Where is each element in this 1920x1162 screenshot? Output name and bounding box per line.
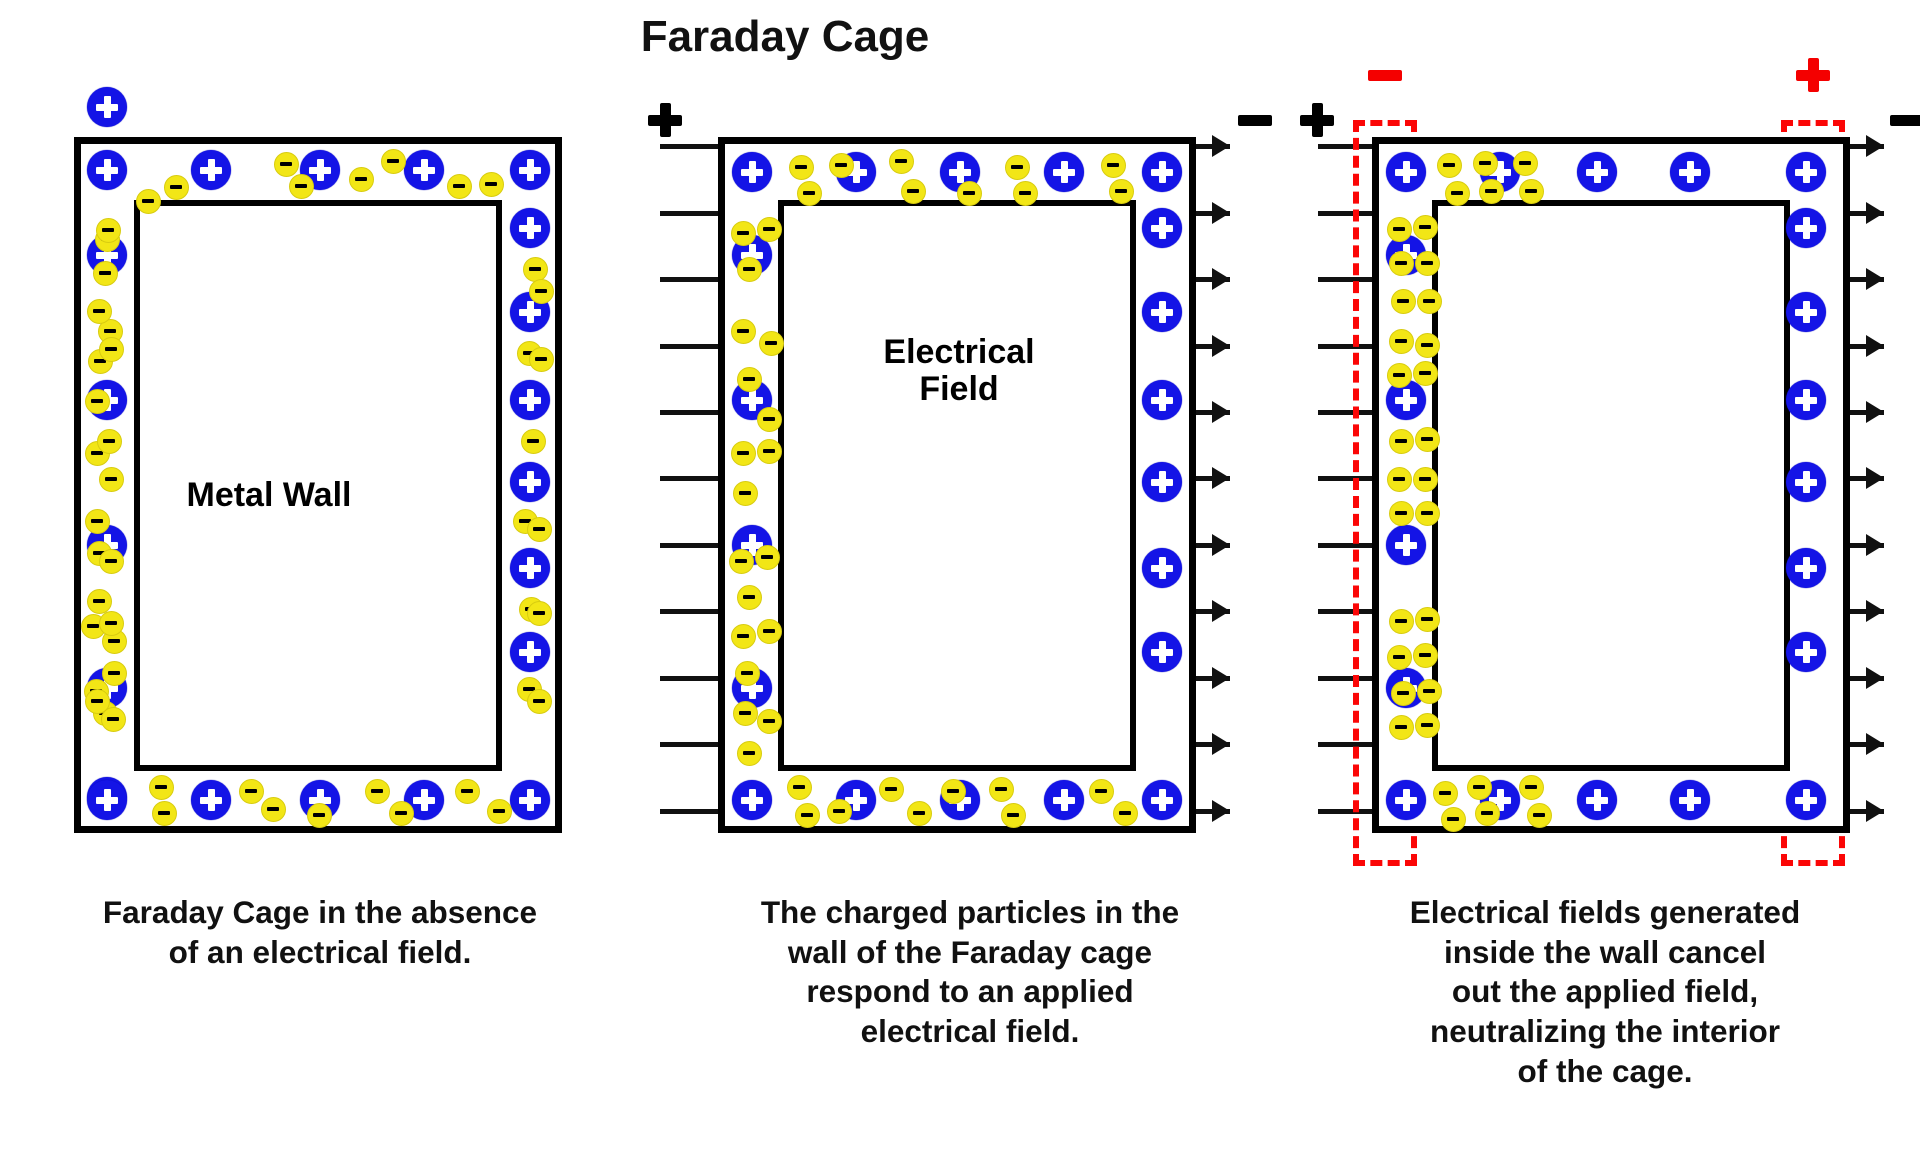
negative-charge-particle: [1415, 607, 1440, 632]
minus-glyph: [1479, 161, 1491, 165]
negative-charge-particle: [757, 619, 782, 644]
positive-charge-particle: [1044, 780, 1084, 820]
negative-charge-particle: [261, 797, 286, 822]
plus-glyph: [1795, 557, 1817, 579]
minus-glyph: [765, 341, 777, 345]
negative-charge-particle: [1391, 681, 1416, 706]
minus-glyph: [533, 611, 545, 615]
positive-charge-particle: [1786, 462, 1826, 502]
minus-glyph: [737, 329, 749, 333]
positive-charge-particle: [1142, 380, 1182, 420]
plus-glyph: [1586, 789, 1608, 811]
negative-charge-particle: [455, 779, 480, 804]
plus-glyph: [1300, 103, 1334, 137]
positive-charge-particle: [87, 150, 127, 190]
plus-glyph: [1795, 161, 1817, 183]
negative-charge-particle: [733, 481, 758, 506]
caption-line: wall of the Faraday cage: [640, 933, 1300, 973]
negative-charge-particle: [1475, 801, 1500, 826]
plus-glyph: [519, 159, 541, 181]
negative-charge-particle: [1389, 715, 1414, 740]
plus-glyph: [1795, 471, 1817, 493]
minus-glyph: [535, 289, 547, 293]
positive-charge-particle: [1142, 292, 1182, 332]
positive-charge-particle: [1786, 780, 1826, 820]
minus-glyph: [1095, 789, 1107, 793]
field-line-arrowhead: [1212, 135, 1230, 157]
minus-glyph: [1115, 189, 1127, 193]
negative-charge-particle: [795, 803, 820, 828]
caption-line: of the cage.: [1290, 1052, 1920, 1092]
plus-glyph: [1795, 641, 1817, 663]
negative-charge-particle: [1417, 679, 1442, 704]
negative-charge-particle: [827, 799, 852, 824]
minus-glyph: [735, 559, 747, 563]
plus-glyph: [1053, 789, 1075, 811]
positive-charge-particle: [510, 780, 550, 820]
negative-charge-particle: [97, 429, 122, 454]
positive-charge-particle: [510, 208, 550, 248]
minus-glyph: [93, 309, 105, 313]
plus-sign: [1300, 103, 1334, 137]
caption-line: respond to an applied: [640, 972, 1300, 1012]
negative-charge-particle: [96, 218, 121, 243]
negative-charge-particle: [735, 661, 760, 686]
positive-charge-particle: [1577, 152, 1617, 192]
negative-charge-particle: [1389, 501, 1414, 526]
minus-glyph: [1397, 691, 1409, 695]
positive-charge-particle: [732, 780, 772, 820]
field-line-arrowhead: [1212, 335, 1230, 357]
negative-charge-particle: [731, 319, 756, 344]
minus-glyph: [107, 717, 119, 721]
minus-glyph: [1533, 813, 1545, 817]
negative-charge-particle: [1445, 181, 1470, 206]
minus-glyph: [527, 439, 539, 443]
plus-glyph: [648, 103, 682, 137]
minus-glyph: [763, 417, 775, 421]
plus-glyph: [519, 641, 541, 663]
plus-glyph: [519, 301, 541, 323]
minus-glyph: [1447, 817, 1459, 821]
negative-charge-particle: [164, 175, 189, 200]
positive-charge-particle: [1386, 780, 1426, 820]
minus-glyph: [485, 182, 497, 186]
minus-glyph: [739, 711, 751, 715]
negative-charge-particle: [1413, 361, 1438, 386]
field-line-arrowhead: [1212, 202, 1230, 224]
minus-glyph: [907, 189, 919, 193]
negative-charge-particle: [479, 172, 504, 197]
minus-glyph: [1395, 339, 1407, 343]
minus-glyph: [1395, 725, 1407, 729]
positive-charge-particle: [510, 548, 550, 588]
negative-charge-particle: [733, 701, 758, 726]
plus-glyph: [741, 789, 763, 811]
plus-glyph: [1151, 301, 1173, 323]
negative-charge-particle: [521, 429, 546, 454]
plus-glyph: [741, 161, 763, 183]
field-line-arrowhead: [1866, 401, 1884, 423]
negative-charge-particle: [731, 221, 756, 246]
minus-glyph: [529, 267, 541, 271]
minus-glyph: [1393, 477, 1405, 481]
caption-line: Electrical fields generated: [1290, 893, 1920, 933]
minus-glyph: [267, 807, 279, 811]
negative-charge-particle: [1387, 645, 1412, 670]
negative-charge-particle: [787, 775, 812, 800]
negative-charge-particle: [1389, 251, 1414, 276]
minus-glyph: [91, 699, 103, 703]
minus-glyph: [1011, 165, 1023, 169]
field-line-arrowhead: [1212, 600, 1230, 622]
negative-charge-particle: [1389, 329, 1414, 354]
minus-glyph: [835, 163, 847, 167]
minus-glyph: [533, 699, 545, 703]
minus-glyph: [1421, 511, 1433, 515]
plus-glyph: [1151, 789, 1173, 811]
minus-glyph: [102, 228, 114, 232]
negative-charge-particle: [93, 261, 118, 286]
plus-glyph: [1796, 58, 1830, 92]
minus-glyph: [453, 184, 465, 188]
minus-glyph: [763, 629, 775, 633]
minus-glyph: [739, 491, 751, 495]
field-line-arrowhead: [1866, 335, 1884, 357]
minus-glyph: [793, 785, 805, 789]
minus-glyph: [1439, 791, 1451, 795]
positive-charge-particle: [510, 462, 550, 502]
minus-glyph: [1419, 653, 1431, 657]
negative-charge-particle: [1441, 807, 1466, 832]
negative-charge-particle: [1527, 803, 1552, 828]
minus-glyph: [1393, 227, 1405, 231]
field-line-arrowhead: [1866, 268, 1884, 290]
cage-inner-cavity: [1432, 200, 1790, 771]
minus-glyph: [743, 595, 755, 599]
negative-charge-particle: [529, 279, 554, 304]
minus-glyph: [1107, 163, 1119, 167]
caption-line: electrical field.: [640, 1012, 1300, 1052]
minus-glyph: [1395, 511, 1407, 515]
positive-charge-particle: [510, 632, 550, 672]
negative-charge-particle: [1415, 251, 1440, 276]
plus-glyph: [519, 389, 541, 411]
plus-glyph: [1151, 217, 1173, 239]
minus-glyph: [280, 162, 292, 166]
negative-charge-particle: [757, 439, 782, 464]
minus-glyph: [1421, 343, 1433, 347]
caption-panel-1: Faraday Cage in the absenceof an electri…: [0, 893, 640, 972]
negative-charge-particle: [1413, 467, 1438, 492]
minus-glyph: [763, 449, 775, 453]
field-line-arrowhead: [1212, 467, 1230, 489]
negative-charge-particle: [99, 337, 124, 362]
minus-glyph: [995, 787, 1007, 791]
minus-glyph: [1443, 163, 1455, 167]
minus-glyph: [763, 719, 775, 723]
negative-charge-particle: [99, 549, 124, 574]
negative-charge-particle: [731, 624, 756, 649]
cage-inner-cavity: [778, 200, 1136, 771]
minus-glyph: [743, 377, 755, 381]
negative-charge-particle: [1415, 333, 1440, 358]
plus-glyph: [1395, 161, 1417, 183]
minus-glyph: [295, 184, 307, 188]
caption-line: The charged particles in the: [640, 893, 1300, 933]
plus-glyph: [1151, 557, 1173, 579]
negative-charge-particle: [102, 661, 127, 686]
positive-charge-particle: [1670, 780, 1710, 820]
negative-charge-particle: [1389, 429, 1414, 454]
minus-glyph: [1421, 617, 1433, 621]
minus-glyph: [947, 789, 959, 793]
negative-charge-particle: [737, 367, 762, 392]
field-line-arrowhead: [1866, 534, 1884, 556]
negative-charge-particle: [99, 611, 124, 636]
negative-charge-particle: [289, 174, 314, 199]
negative-charge-particle: [1433, 781, 1458, 806]
negative-charge-particle: [1109, 179, 1134, 204]
plus-glyph: [96, 159, 118, 181]
minus-glyph: [1423, 689, 1435, 693]
field-line-arrowhead: [1212, 733, 1230, 755]
minus-glyph: [104, 329, 116, 333]
negative-charge-particle: [349, 167, 374, 192]
plus-glyph: [1395, 534, 1417, 556]
electrical-field-label-line-2: Field: [844, 371, 1074, 408]
minus-glyph: [535, 357, 547, 361]
minus-glyph: [93, 599, 105, 603]
caption-line: out the applied field,: [1290, 972, 1920, 1012]
minus-glyph: [355, 177, 367, 181]
positive-charge-particle: [1142, 780, 1182, 820]
page-title: Faraday Cage: [0, 12, 1570, 62]
negative-charge-particle: [99, 467, 124, 492]
caption-line: inside the wall cancel: [1290, 933, 1920, 973]
minus-glyph: [87, 624, 99, 628]
plus-glyph: [1053, 161, 1075, 183]
negative-charge-particle: [85, 509, 110, 534]
minus-glyph: [1421, 261, 1433, 265]
positive-charge-particle: [191, 780, 231, 820]
negative-charge-particle: [381, 149, 406, 174]
negative-charge-particle: [941, 779, 966, 804]
negative-charge-particle: [1467, 775, 1492, 800]
minus-glyph: [105, 621, 117, 625]
negative-charge-particle: [1519, 775, 1544, 800]
positive-charge-particle: [1142, 548, 1182, 588]
minus-glyph: [737, 634, 749, 638]
positive-charge-particle: [1386, 525, 1426, 565]
minus-glyph: [170, 185, 182, 189]
minus-glyph: [313, 813, 325, 817]
minus-glyph: [1368, 58, 1402, 92]
minus-glyph: [387, 159, 399, 163]
plus-glyph: [1151, 389, 1173, 411]
negative-charge-particle: [87, 589, 112, 614]
minus-glyph: [99, 271, 111, 275]
negative-charge-particle: [737, 741, 762, 766]
field-line-arrowhead: [1212, 534, 1230, 556]
plus-glyph: [309, 159, 331, 181]
plus-glyph: [519, 789, 541, 811]
caption-line: of an electrical field.: [0, 933, 640, 973]
negative-charge-particle: [789, 155, 814, 180]
negative-charge-particle: [1437, 153, 1462, 178]
red-plus-sign: [1796, 58, 1830, 92]
electrical-field-label-line-1: Electrical: [844, 334, 1074, 371]
minus-glyph: [1485, 189, 1497, 193]
negative-charge-particle: [757, 407, 782, 432]
positive-charge-particle: [1142, 632, 1182, 672]
minus-sign: [1890, 103, 1920, 137]
positive-charge-particle: [87, 780, 127, 820]
minus-glyph: [533, 527, 545, 531]
minus-glyph: [103, 439, 115, 443]
minus-glyph: [105, 477, 117, 481]
minus-glyph: [885, 787, 897, 791]
negative-charge-particle: [87, 299, 112, 324]
minus-glyph: [743, 267, 755, 271]
positive-charge-particle: [1142, 152, 1182, 192]
minus-glyph: [1451, 191, 1463, 195]
positive-charge-particle: [1142, 462, 1182, 502]
field-line-arrowhead: [1866, 135, 1884, 157]
negative-charge-particle: [527, 689, 552, 714]
negative-charge-particle: [759, 331, 784, 356]
minus-glyph: [1481, 811, 1493, 815]
minus-glyph: [1397, 299, 1409, 303]
negative-charge-particle: [755, 545, 780, 570]
minus-glyph: [1019, 191, 1031, 195]
minus-glyph: [1890, 103, 1920, 137]
minus-glyph: [1238, 103, 1272, 137]
plus-glyph: [1395, 789, 1417, 811]
minus-sign: [1238, 103, 1272, 137]
field-line-arrowhead: [1212, 800, 1230, 822]
negative-charge-particle: [729, 549, 754, 574]
positive-charge-particle: [1786, 548, 1826, 588]
field-line-arrowhead: [1212, 401, 1230, 423]
plus-glyph: [519, 557, 541, 579]
minus-glyph: [1419, 371, 1431, 375]
negative-charge-particle: [829, 153, 854, 178]
plus-glyph: [200, 789, 222, 811]
minus-glyph: [158, 811, 170, 815]
positive-charge-particle: [1044, 152, 1084, 192]
plus-glyph: [519, 217, 541, 239]
minus-glyph: [761, 555, 773, 559]
negative-charge-particle: [1415, 501, 1440, 526]
minus-glyph: [91, 519, 103, 523]
positive-charge-particle: [1786, 152, 1826, 192]
positive-charge-particle: [1786, 292, 1826, 332]
plus-glyph: [519, 471, 541, 493]
field-line-arrowhead: [1212, 268, 1230, 290]
negative-charge-particle: [1101, 153, 1126, 178]
negative-charge-particle: [1005, 155, 1030, 180]
minus-glyph: [1419, 225, 1431, 229]
minus-glyph: [803, 191, 815, 195]
negative-charge-particle: [274, 152, 299, 177]
minus-glyph: [1473, 785, 1485, 789]
negative-charge-particle: [957, 181, 982, 206]
minus-glyph: [737, 451, 749, 455]
plus-glyph: [1795, 217, 1817, 239]
minus-glyph: [1421, 437, 1433, 441]
plus-glyph: [1151, 161, 1173, 183]
negative-charge-particle: [889, 149, 914, 174]
minus-glyph: [91, 399, 103, 403]
plus-glyph: [1151, 641, 1173, 663]
plus-sign: [648, 103, 682, 137]
metal-wall-label: Metal Wall: [140, 475, 398, 516]
field-line-arrowhead: [1866, 667, 1884, 689]
negative-charge-particle: [1387, 217, 1412, 242]
negative-charge-particle: [239, 779, 264, 804]
negative-charge-particle: [365, 779, 390, 804]
minus-glyph: [142, 199, 154, 203]
positive-charge-particle: [1786, 380, 1826, 420]
negative-charge-particle: [1417, 289, 1442, 314]
minus-glyph: [1393, 655, 1405, 659]
negative-charge-particle: [757, 217, 782, 242]
minus-glyph: [1519, 161, 1531, 165]
caption-line: Faraday Cage in the absence: [0, 893, 640, 933]
minus-glyph: [108, 639, 120, 643]
plus-glyph: [1679, 161, 1701, 183]
minus-glyph: [743, 751, 755, 755]
minus-glyph: [371, 789, 383, 793]
positive-charge-particle: [404, 150, 444, 190]
plus-glyph: [200, 159, 222, 181]
negative-charge-particle: [989, 777, 1014, 802]
plus-glyph: [741, 389, 763, 411]
negative-charge-particle: [487, 799, 512, 824]
caption-panel-3: Electrical fields generatedinside the wa…: [1290, 893, 1920, 1091]
minus-glyph: [1421, 723, 1433, 727]
plus-glyph: [1679, 789, 1701, 811]
plus-glyph: [949, 161, 971, 183]
minus-glyph: [105, 559, 117, 563]
negative-charge-particle: [1413, 643, 1438, 668]
negative-charge-particle: [1089, 779, 1114, 804]
negative-charge-particle: [307, 803, 332, 828]
minus-glyph: [1525, 189, 1537, 193]
positive-charge-particle: [191, 150, 231, 190]
minus-glyph: [913, 811, 925, 815]
minus-glyph: [1423, 299, 1435, 303]
negative-charge-particle: [1391, 289, 1416, 314]
negative-charge-particle: [1113, 801, 1138, 826]
positive-charge-particle: [87, 87, 127, 127]
minus-glyph: [963, 191, 975, 195]
negative-charge-particle: [1013, 181, 1038, 206]
minus-glyph: [108, 671, 120, 675]
minus-glyph: [741, 671, 753, 675]
negative-charge-particle: [523, 257, 548, 282]
positive-charge-particle: [1786, 208, 1826, 248]
negative-charge-particle: [1387, 467, 1412, 492]
negative-charge-particle: [1415, 713, 1440, 738]
negative-charge-particle: [901, 179, 926, 204]
negative-charge-particle: [1473, 151, 1498, 176]
field-line-arrowhead: [1866, 467, 1884, 489]
field-line-arrowhead: [1866, 800, 1884, 822]
caption-panel-2: The charged particles in thewall of the …: [640, 893, 1300, 1052]
plus-glyph: [1795, 789, 1817, 811]
